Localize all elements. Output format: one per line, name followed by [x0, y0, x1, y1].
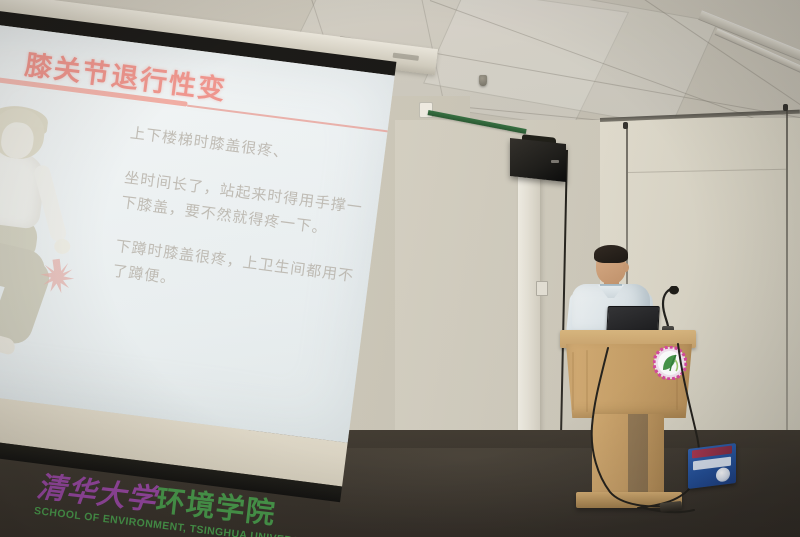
slide-illustration — [0, 96, 113, 364]
projection-screen: 膝关节退行性变 上下楼梯时膝盖很疼、 坐时间长了，站起来时得用手撑一下膝盖，要不… — [0, 6, 396, 528]
projected-slide: 膝关节退行性变 上下楼梯时膝盖很疼、 坐时间长了，站起来时得用手撑一下膝盖，要不… — [0, 20, 395, 443]
speaker-badge — [551, 160, 559, 163]
floor-box — [688, 443, 736, 489]
slide-paragraph-3: 下蹲时膝盖很疼，上卫生间都用不了蹲便。 — [111, 234, 355, 314]
pain-starburst-icon — [39, 257, 77, 295]
partition-track-knob-right — [783, 104, 788, 111]
wall-outlet — [536, 281, 548, 296]
slide-title-rule — [187, 105, 388, 132]
presenter-collar-line — [600, 284, 622, 286]
slide-paragraph-2: 坐时间长了，站起来时得用手撑一下膝盖，要不然就得疼一下。 — [120, 165, 364, 245]
slide-body: 上下楼梯时膝盖很疼、 坐时间长了，站起来时得用手撑一下膝盖，要不然就得疼一下。 … — [108, 121, 369, 334]
white-pillar — [518, 150, 540, 450]
presenter-ear — [623, 263, 629, 272]
presenter-hair — [594, 245, 628, 263]
lecture-hall-photo: 膝关节退行性变 上下楼梯时膝盖很疼、 坐时间长了，站起来时得用手撑一下膝盖，要不… — [0, 0, 800, 537]
partition-track-knob-left — [623, 122, 628, 129]
casing-brand-logo — [393, 53, 419, 61]
sprinkler-head — [479, 75, 487, 86]
slide-paragraph-1: 上下楼梯时膝盖很疼、 — [129, 121, 370, 176]
